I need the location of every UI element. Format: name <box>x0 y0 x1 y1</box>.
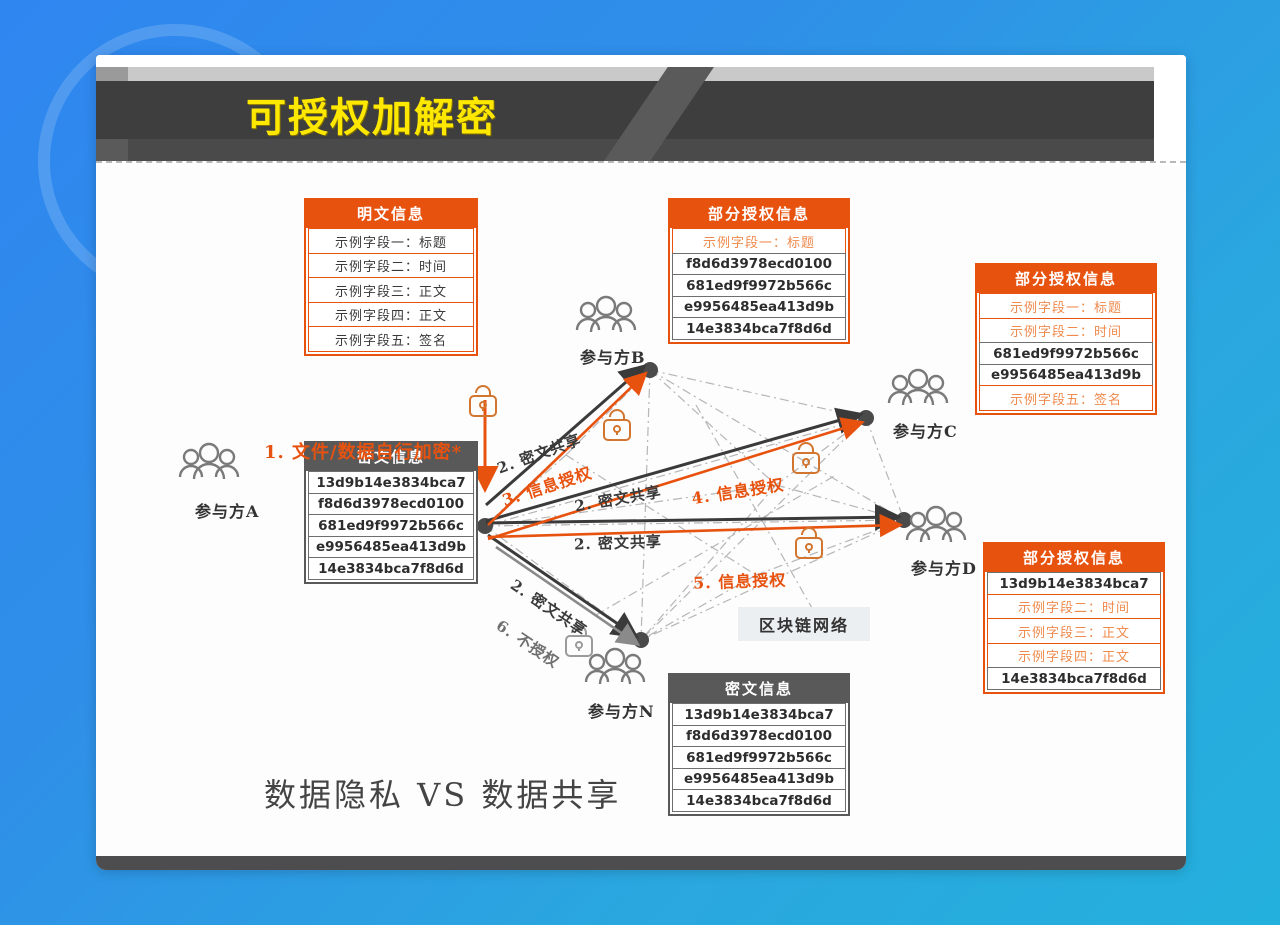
table-row: 681ed9f9972b566c <box>672 746 846 769</box>
table-partial-d-body: 13d9b14e3834bca7 示例字段二：时间 示例字段三：正文 示例字段四… <box>985 572 1163 692</box>
table-partial-b: 部分授权信息 示例字段一：标题 f8d6d3978ecd0100 681ed9f… <box>668 198 850 344</box>
step-1-encrypt-label: 1. 文件/数据自行加密* <box>264 438 462 464</box>
table-row: e9956485ea413d9b <box>672 768 846 791</box>
table-plaintext-title: 明文信息 <box>306 200 476 228</box>
table-partial-b-body: 示例字段一：标题 f8d6d3978ecd0100 681ed9f9972b56… <box>670 228 848 342</box>
table-row: 示例字段二：时间 <box>987 594 1161 620</box>
table-ciphertext-a-body: 13d9b14e3834bca7 f8d6d3978ecd0100 681ed9… <box>306 471 476 582</box>
table-row: 14e3834bca7f8d6d <box>308 557 474 580</box>
table-partial-d: 部分授权信息 13d9b14e3834bca7 示例字段二：时间 示例字段三：正… <box>983 542 1165 694</box>
table-partial-c-body: 示例字段一：标题 示例字段二：时间 681ed9f9972b566c e9956… <box>977 293 1155 413</box>
table-plaintext: 明文信息 示例字段一：标题 示例字段二：时间 示例字段三：正文 示例字段四：正文… <box>304 198 478 356</box>
table-row: 示例字段三：正文 <box>308 277 474 303</box>
table-row: 示例字段四：正文 <box>308 302 474 328</box>
party-label-a: 参与方A <box>195 498 259 522</box>
table-row: 14e3834bca7f8d6d <box>672 789 846 812</box>
table-ciphertext-n: 密文信息 13d9b14e3834bca7 f8d6d3978ecd0100 6… <box>668 673 850 816</box>
table-row: 示例字段一：标题 <box>308 228 474 254</box>
table-partial-c-title: 部分授权信息 <box>977 265 1155 293</box>
party-label-n: 参与方N <box>588 698 655 722</box>
table-row: 示例字段一：标题 <box>672 228 846 254</box>
party-label-d: 参与方D <box>911 555 977 579</box>
table-row: 示例字段五：签名 <box>979 385 1153 411</box>
table-row: 示例字段四：正文 <box>987 643 1161 669</box>
table-ciphertext-n-body: 13d9b14e3834bca7 f8d6d3978ecd0100 681ed9… <box>670 703 848 814</box>
table-partial-b-title: 部分授权信息 <box>670 200 848 228</box>
table-plaintext-body: 示例字段一：标题 示例字段二：时间 示例字段三：正文 示例字段四：正文 示例字段… <box>306 228 476 354</box>
table-row: e9956485ea413d9b <box>979 364 1153 387</box>
blockchain-network-label: 区块链网络 <box>738 607 870 641</box>
table-row: 681ed9f9972b566c <box>672 274 846 297</box>
table-row: 681ed9f9972b566c <box>308 514 474 537</box>
arrow-label-share-d: 2. 密文共享 <box>574 530 663 554</box>
table-row: 14e3834bca7f8d6d <box>987 667 1161 690</box>
table-row: 13d9b14e3834bca7 <box>308 471 474 494</box>
table-row: 示例字段一：标题 <box>979 293 1153 319</box>
table-row: e9956485ea413d9b <box>672 296 846 319</box>
table-row: f8d6d3978ecd0100 <box>308 493 474 516</box>
table-ciphertext-n-title: 密文信息 <box>670 675 848 703</box>
arrow-label-auth-d: 5. 信息授权 <box>693 566 787 593</box>
table-row: 681ed9f9972b566c <box>979 342 1153 365</box>
party-label-b: 参与方B <box>580 344 646 368</box>
table-partial-c: 部分授权信息 示例字段一：标题 示例字段二：时间 681ed9f9972b566… <box>975 263 1157 415</box>
slide-canvas: 可授权加解密 <box>96 55 1186 870</box>
table-row: 14e3834bca7f8d6d <box>672 317 846 340</box>
table-row: 示例字段三：正文 <box>987 618 1161 644</box>
bottom-caption: 数据隐私 VS 数据共享 <box>264 770 621 816</box>
table-row: 13d9b14e3834bca7 <box>672 703 846 726</box>
table-row: 13d9b14e3834bca7 <box>987 572 1161 595</box>
diagram-connectors <box>96 55 1186 870</box>
table-row: f8d6d3978ecd0100 <box>672 253 846 276</box>
table-row: 示例字段二：时间 <box>308 253 474 279</box>
table-row: f8d6d3978ecd0100 <box>672 725 846 748</box>
table-row: 示例字段五：签名 <box>308 326 474 352</box>
table-partial-d-title: 部分授权信息 <box>985 544 1163 572</box>
table-row: 示例字段二：时间 <box>979 318 1153 344</box>
party-label-c: 参与方C <box>893 418 958 442</box>
table-row: e9956485ea413d9b <box>308 536 474 559</box>
slide-footer-bar <box>96 856 1186 870</box>
